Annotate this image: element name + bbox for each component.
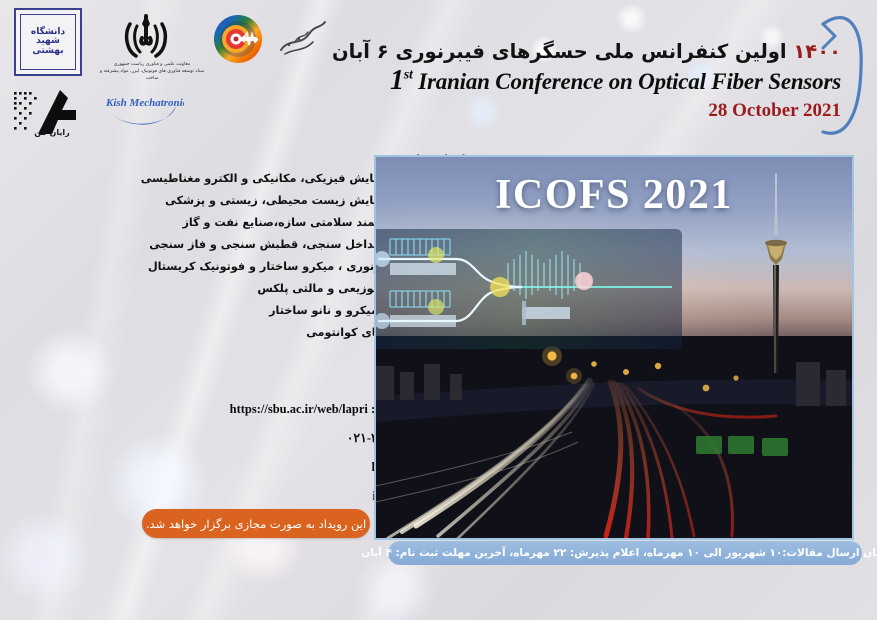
hero-title: ICOFS 2021 (376, 171, 852, 219)
kish-mechatronics-text: Kish Mechatronics (105, 97, 184, 109)
title-ordinal: 1st (390, 65, 413, 96)
rayan-fan-caption: رایان فن (8, 128, 96, 137)
emblem-caption-line1: معاونت علمی و فناوری ریاست جمهوری (96, 62, 208, 69)
hero-image: ICOFS 2021 (374, 155, 854, 540)
opsi-logo-icon (205, 6, 271, 72)
iran-emblem-caption: معاونت علمی و فناوری ریاست جمهوری ستاد ت… (96, 62, 208, 83)
sponsor-footer: LABINET Laboratory & Industrial Sales Ne… (0, 564, 877, 620)
iran-national-emblem-icon (118, 12, 174, 64)
title-persian-main: اولین کنفرانس ملی حسگرهای فیبرنوری ۶ آبا… (332, 40, 787, 63)
emblem-caption-line2: ستاد توسعه فناوری های فوتونیک، لیزر، موا… (96, 69, 208, 83)
fiber-sensor-diagram-svg (374, 229, 682, 349)
fiber-sensor-diagram (374, 229, 682, 349)
header-logo-strip: دانشگاه شهید بهشتی معاونت علمی و فناوری … (0, 0, 330, 145)
kish-mechatronics-logo-icon: Kish Mechatronics (100, 88, 184, 136)
sbu-logo: دانشگاه شهید بهشتی (14, 8, 82, 76)
title-english-main: Iranian Conference on Optical Fiber Sens… (418, 69, 841, 94)
title-english: 1st Iranian Conference on Optical Fiber … (321, 65, 841, 97)
conference-date: 28 October 2021 (321, 100, 841, 122)
virtual-event-banner: این رویداد به صورت مجازی برگزار خواهد شد… (142, 509, 370, 538)
contact-value-text: https://sbu.ac.ir/web/lapri (230, 402, 368, 417)
deadline-banner: زمان ارسال مقالات:۱۰ شهریور الی ۱۰ مهرما… (388, 541, 862, 565)
conference-poster: دانشگاه شهید بهشتی معاونت علمی و فناوری … (0, 0, 877, 620)
title-persian: ۱۴۰۰ اولین کنفرانس ملی حسگرهای فیبرنوری … (321, 40, 841, 64)
sbu-logo-text: دانشگاه شهید بهشتی (20, 14, 76, 70)
decorative-bracket-icon (819, 6, 865, 148)
conference-title-block: ۱۴۰۰ اولین کنفرانس ملی حسگرهای فیبرنوری … (321, 40, 841, 122)
